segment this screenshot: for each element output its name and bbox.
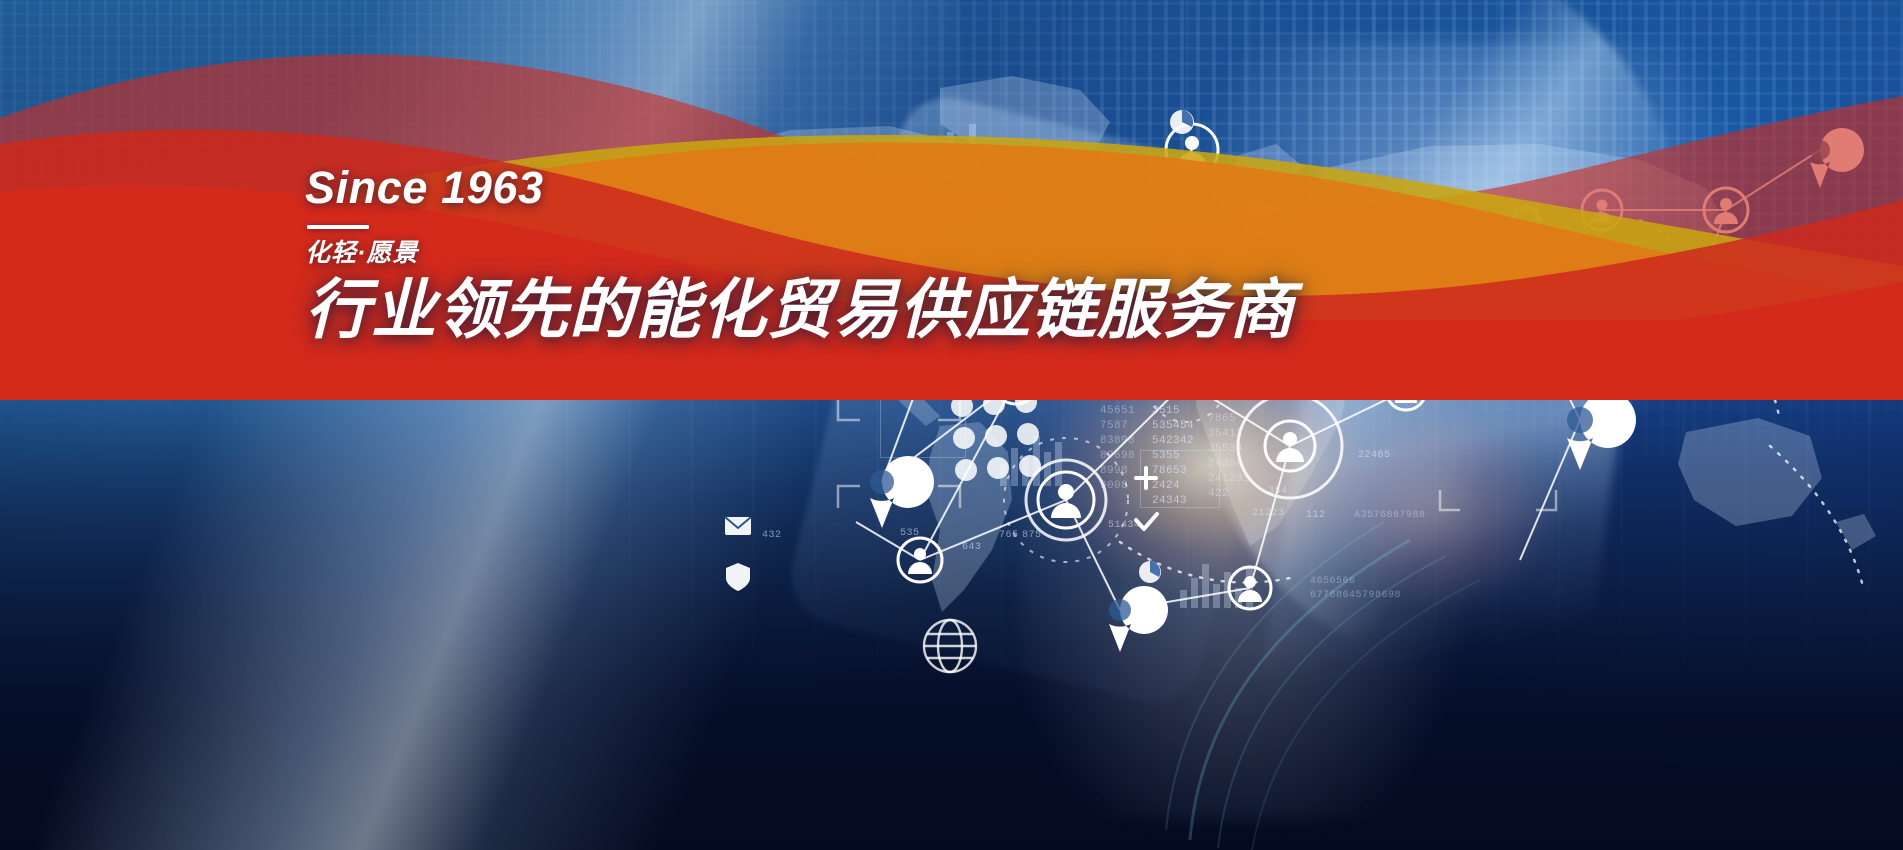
hero-copy-block: Since 1963 化轻·愿景 行业领先的能化贸易供应链服务商: [305, 165, 1205, 347]
divider-rule: [307, 225, 369, 229]
hero-headline: 行业领先的能化贸易供应链服务商: [305, 274, 1205, 347]
small-number-432: 432: [762, 530, 782, 541]
hero-subtitle: 化轻·愿景: [305, 241, 1205, 266]
hero-banner: 3515 535454 542342 5355 78653 2424 24343…: [0, 0, 1903, 850]
since-eyebrow: Since 1963: [305, 165, 1205, 210]
